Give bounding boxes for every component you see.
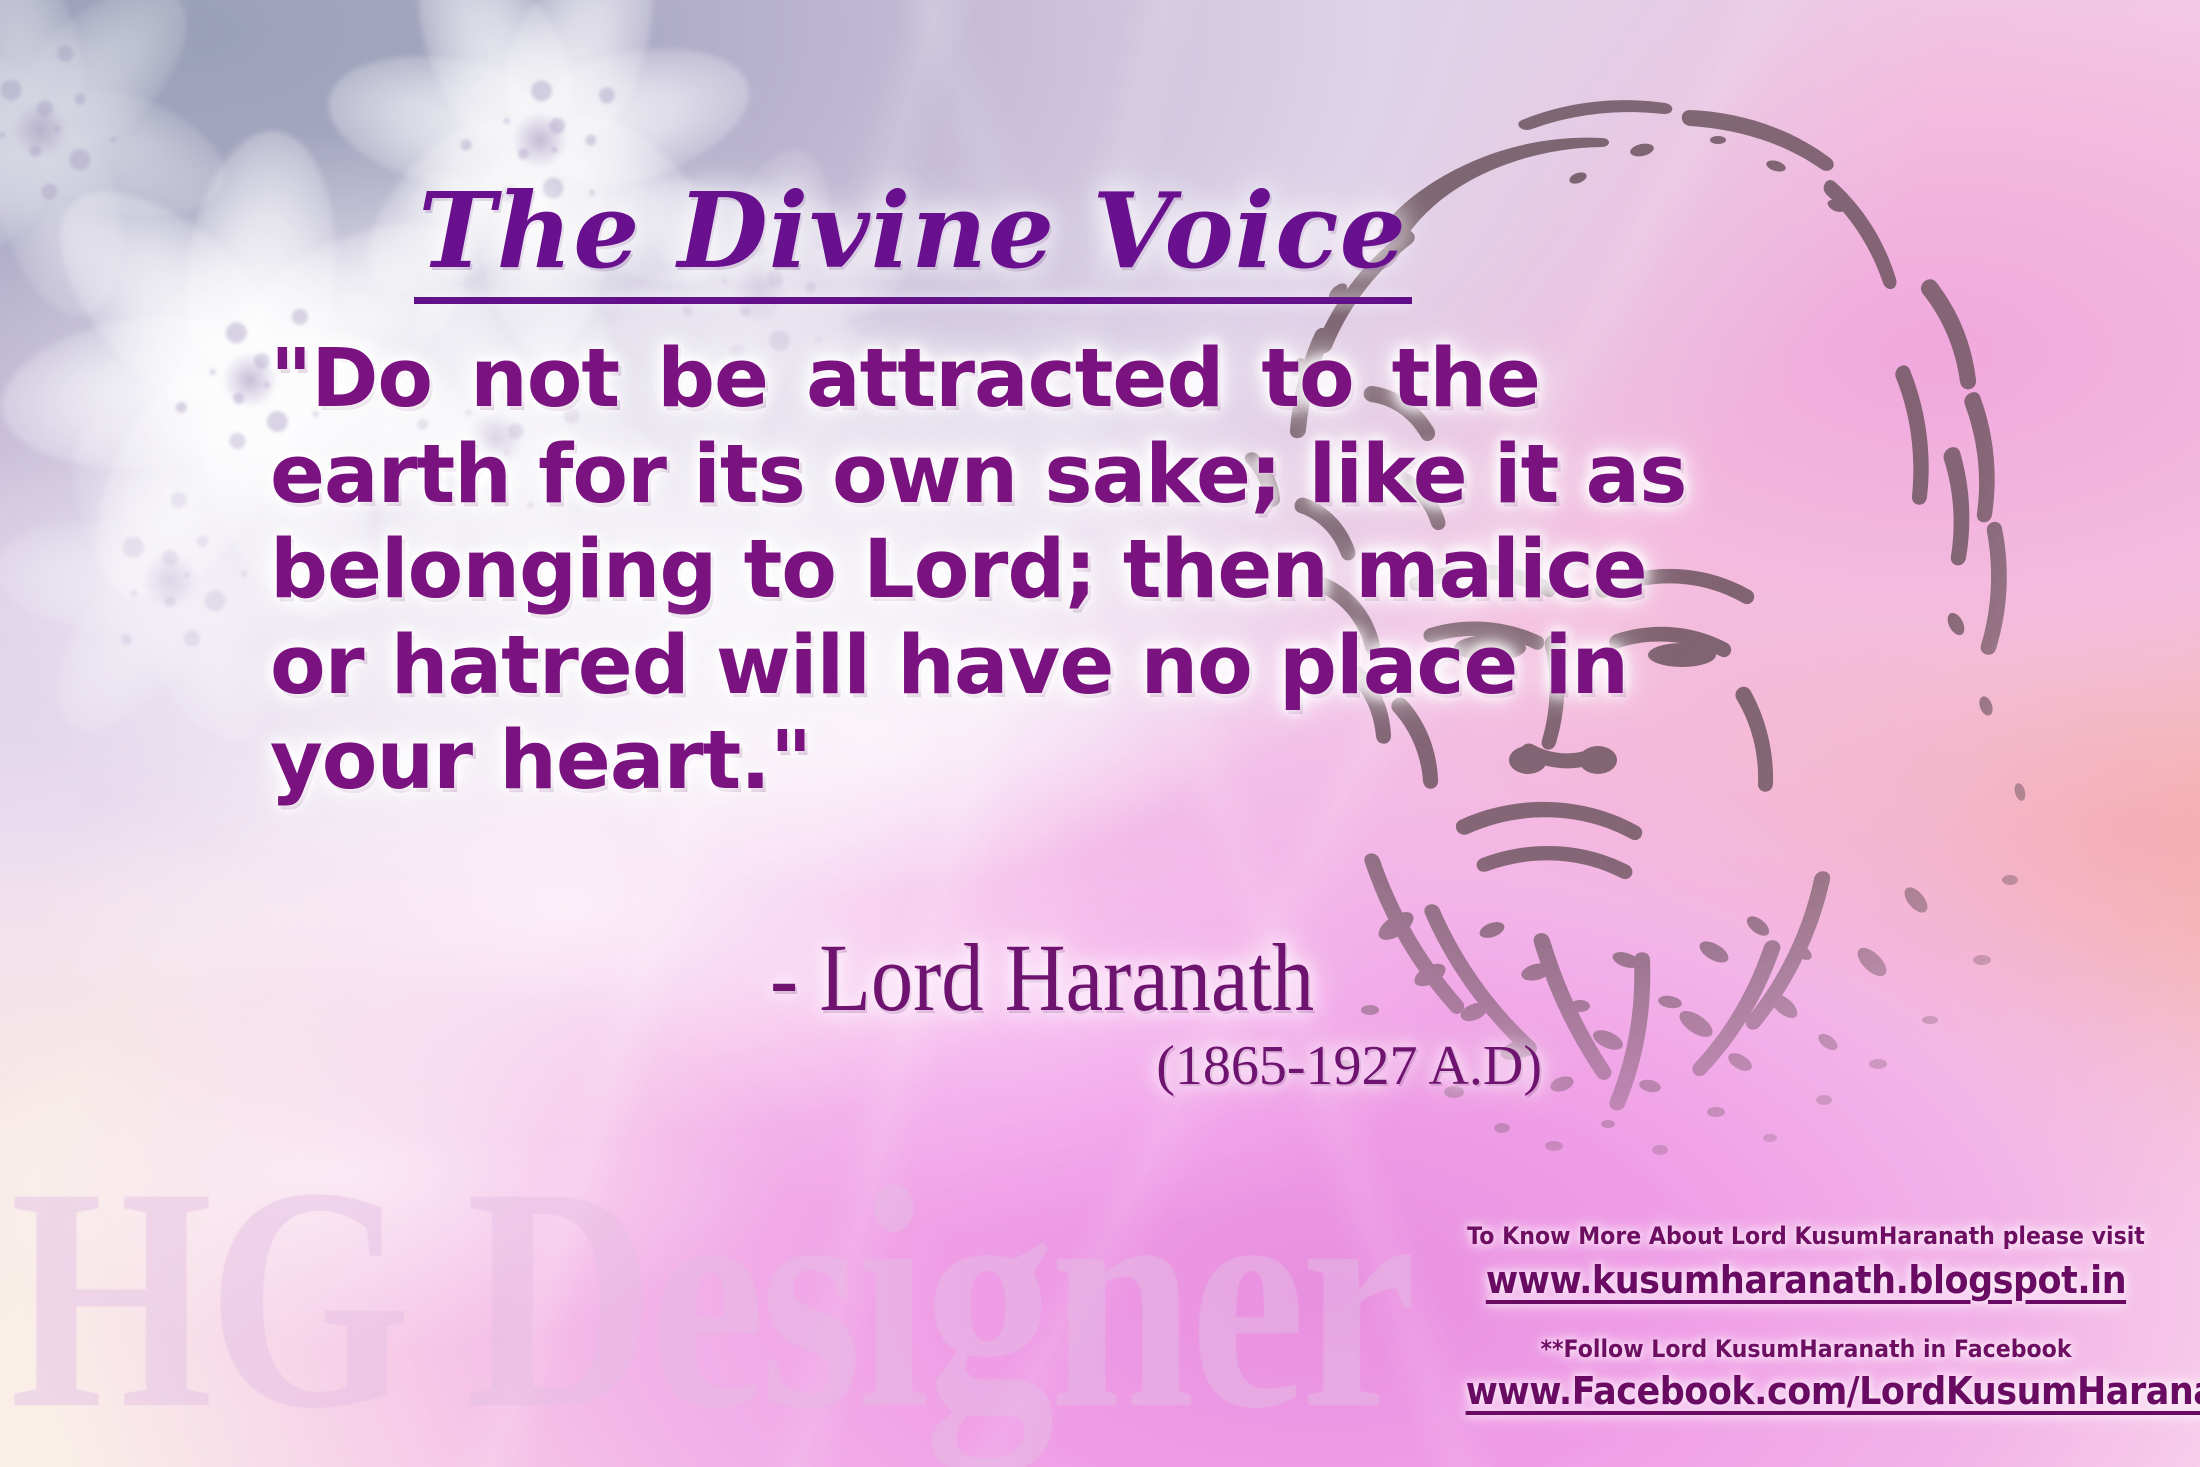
attribution-name: - Lord Haranath bbox=[770, 930, 1500, 1026]
poster-canvas: HG Designer The Divine Voice "Do not be … bbox=[0, 0, 2200, 1467]
quote-line: belonging to Lord; then malice bbox=[270, 523, 1570, 619]
attribution-block: - Lord Haranath (1865-1927 A.D) bbox=[770, 930, 1600, 1094]
blog-url-link[interactable]: www.kusumharanath.blogspot.in bbox=[1466, 1257, 2147, 1305]
designer-watermark: HG Designer bbox=[10, 1147, 1412, 1449]
facebook-prompt-text: **Follow Lord KusumHaranath in Facebook bbox=[1466, 1335, 2147, 1364]
quote-line: your heart." bbox=[270, 714, 1570, 810]
attribution-dates: (1865-1927 A.D) bbox=[770, 1038, 1600, 1094]
title-block: The Divine Voice bbox=[395, 178, 1430, 304]
facebook-url-link[interactable]: www.Facebook.com/LordKusumHaranath bbox=[1466, 1368, 2147, 1416]
quote-line: earth for its own sake; like it as bbox=[270, 428, 1570, 524]
title-underline-rule bbox=[414, 297, 1412, 304]
blog-prompt-text: To Know More About Lord KusumHaranath pl… bbox=[1466, 1222, 2147, 1251]
quote-text: "Do not be attracted to the earth for it… bbox=[270, 332, 1570, 810]
footer-links-block: To Know More About Lord KusumHaranath pl… bbox=[1436, 1222, 2176, 1415]
page-title: The Divine Voice bbox=[395, 178, 1430, 284]
quote-line: "Do not be attracted to the bbox=[270, 332, 1540, 428]
quote-line: or hatred will have no place in bbox=[270, 619, 1570, 715]
